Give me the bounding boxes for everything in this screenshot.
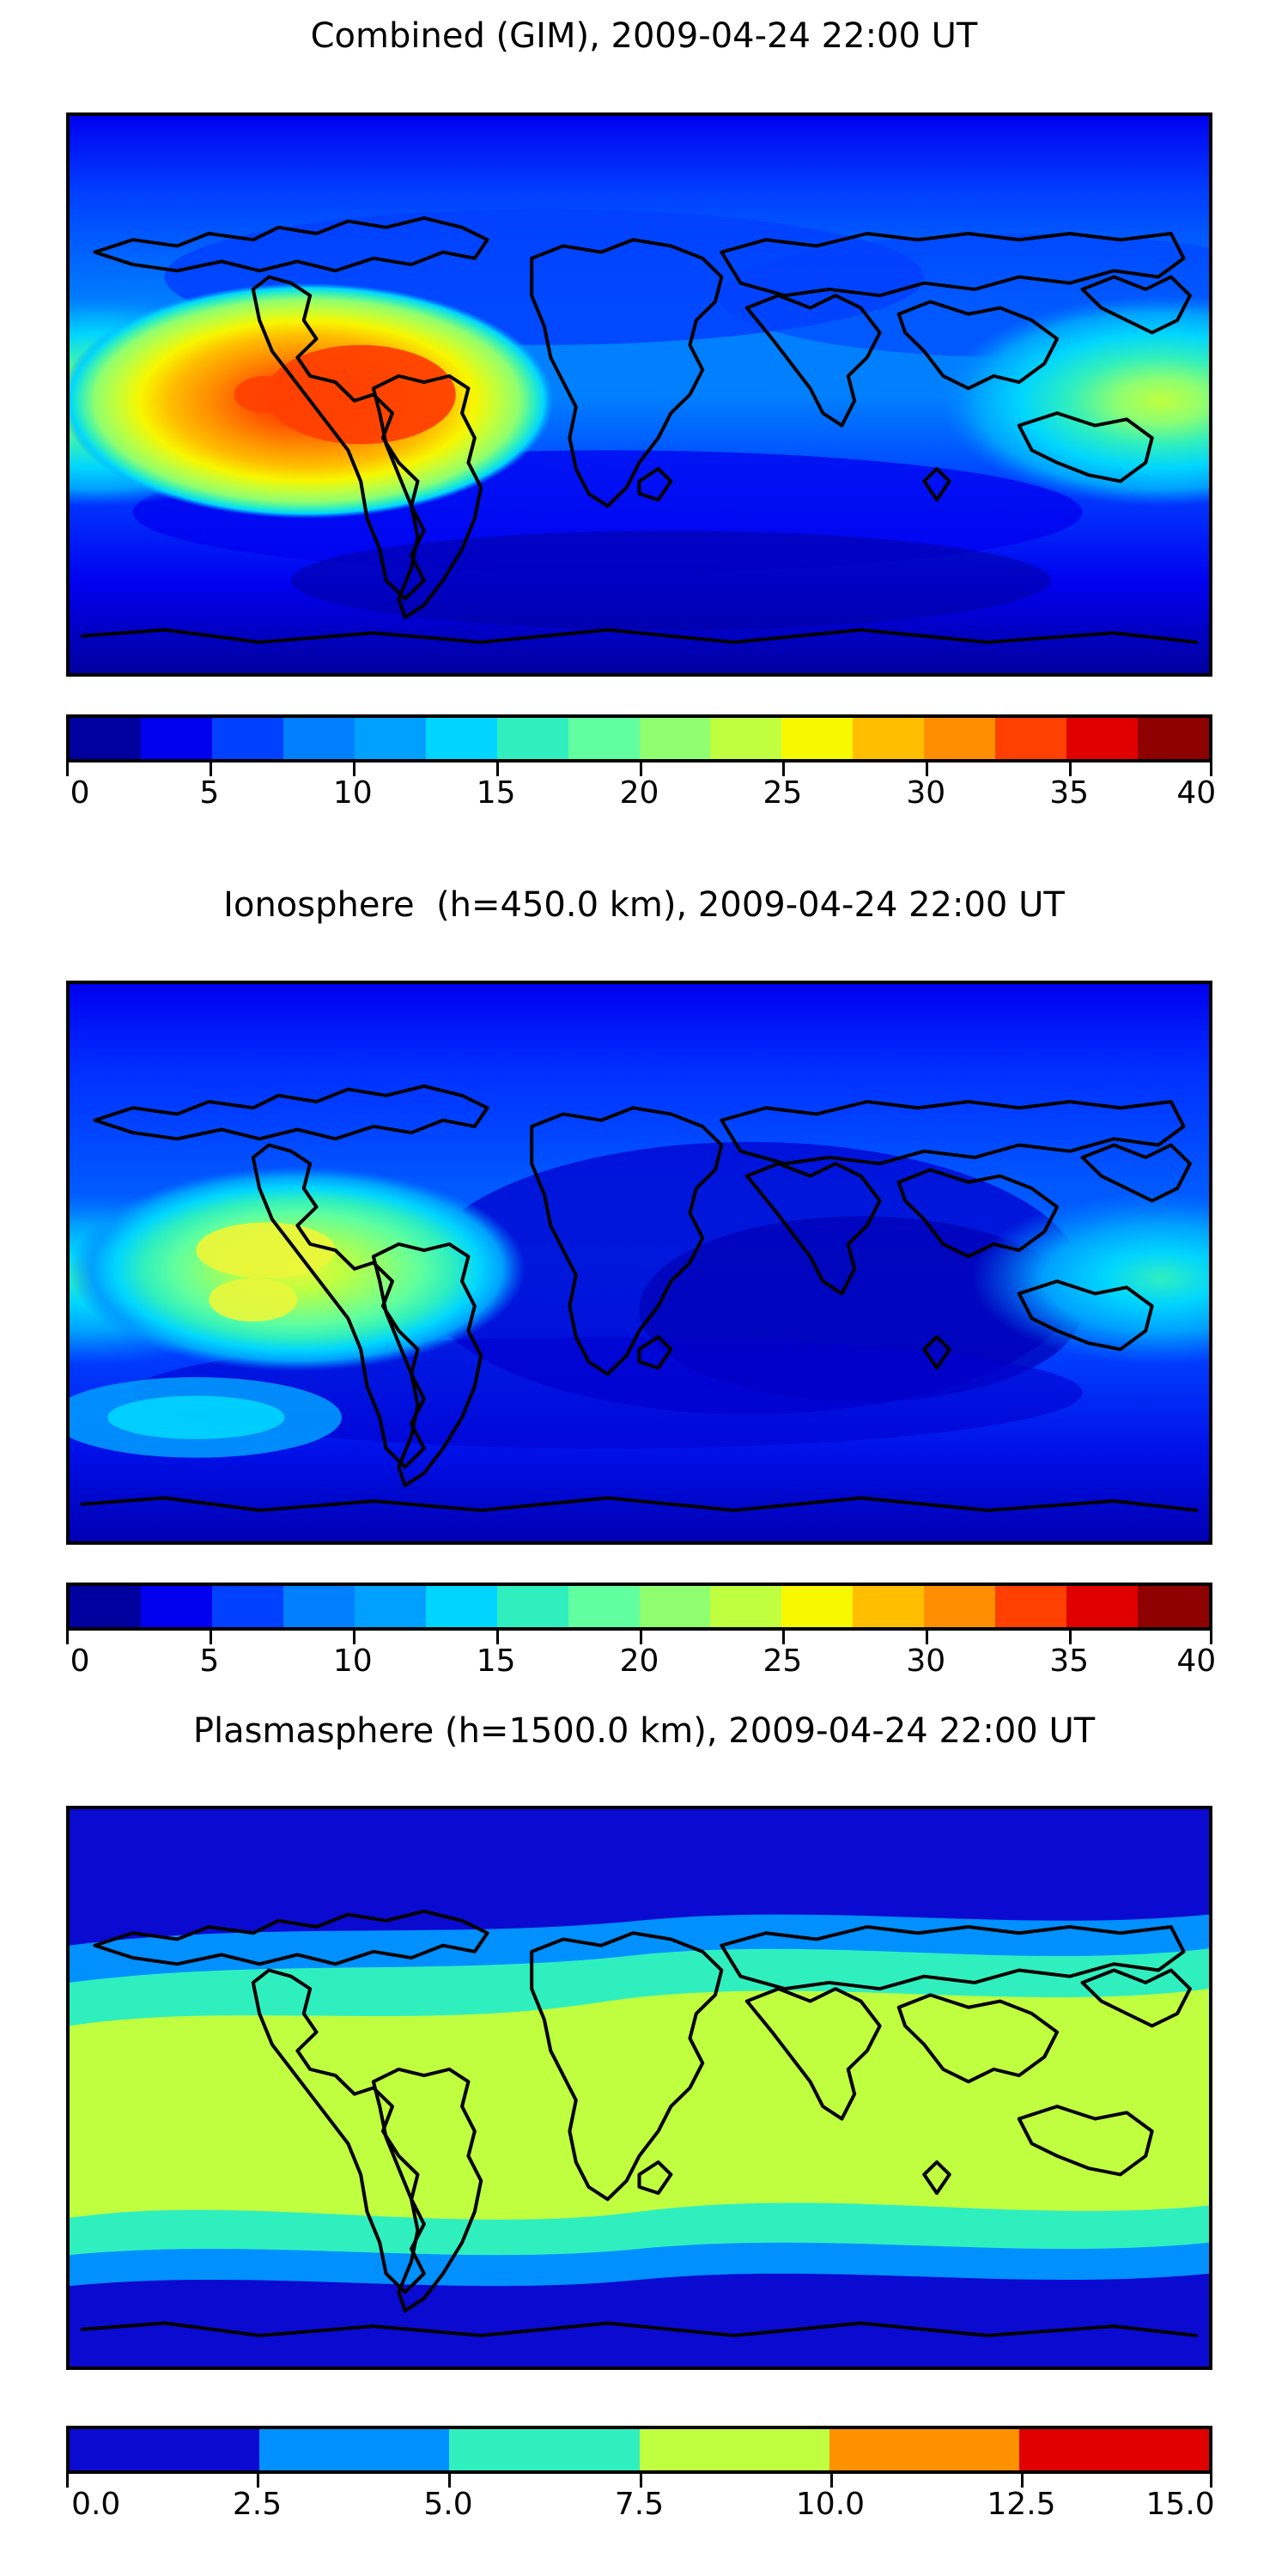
panel-title-plasmasphere: Plasmasphere (h=1500.0 km), 2009-04-24 2… xyxy=(0,1714,1288,1748)
figure-canvas: Combined (GIM), 2009-04-24 22:00 UT xyxy=(0,0,1288,2576)
colorbar-tick-label: 10 xyxy=(333,778,373,809)
colorbar-tick-label: 15 xyxy=(477,778,516,809)
colorbar-tick-label: 12.5 xyxy=(987,2489,1055,2520)
colorbar-tick-label: 20 xyxy=(620,778,659,809)
colorbar-tick-label: 35 xyxy=(1049,778,1089,809)
colorbar-swatches-ionosphere xyxy=(66,1583,1212,1631)
colorbar-tick-label: 0.0 xyxy=(71,2489,120,2520)
colorbar-ticks-plasmasphere xyxy=(66,2474,1212,2488)
colorbar-tick-label: 0 xyxy=(70,1646,90,1677)
colorbar-tick-label: 25 xyxy=(762,1646,802,1677)
panel-combined-gim: Combined (GIM), 2009-04-24 22:00 UT xyxy=(0,19,1288,53)
colorbar-ticks-ionosphere xyxy=(66,1631,1212,1644)
map-plasmasphere xyxy=(66,1806,1212,2370)
map-raster-plasmasphere xyxy=(70,1809,1209,2366)
map-raster-combined-gim xyxy=(70,116,1209,673)
colorbar-ionosphere: 0 5 10 15 20 25 30 35 40 xyxy=(66,1583,1212,1684)
map-ionosphere xyxy=(66,981,1212,1545)
colorbar-tick-label: 20 xyxy=(620,1646,659,1677)
colorbar-swatches-combined-gim xyxy=(66,714,1212,762)
map-raster-ionosphere xyxy=(70,984,1209,1541)
colorbar-tick-label: 5 xyxy=(199,1646,219,1677)
colorbar-combined-gim: 0 5 10 15 20 25 30 35 40 xyxy=(66,714,1212,816)
colorbar-tick-label: 2.5 xyxy=(233,2489,282,2520)
map-combined-gim xyxy=(66,112,1212,677)
colorbar-plasmasphere: 0.0 2.5 5.0 7.5 10.0 12.5 15.0 xyxy=(66,2426,1212,2527)
colorbar-tick-label: 5.0 xyxy=(423,2489,472,2520)
colorbar-ticks-combined-gim xyxy=(66,762,1212,776)
panel-title-ionosphere: Ionosphere (h=450.0 km), 2009-04-24 22:0… xyxy=(0,888,1288,922)
map-contours-plasmasphere xyxy=(70,1809,1209,2366)
panel-title-combined-gim: Combined (GIM), 2009-04-24 22:00 UT xyxy=(0,19,1288,53)
colorbar-tick-label: 15 xyxy=(477,1646,516,1677)
colorbar-labels-combined-gim: 0 5 10 15 20 25 30 35 40 xyxy=(66,776,1212,816)
colorbar-tick-label: 35 xyxy=(1049,1646,1089,1677)
colorbar-tick-label: 5 xyxy=(199,778,219,809)
colorbar-tick-label: 7.5 xyxy=(615,2489,664,2520)
colorbar-tick-label: 30 xyxy=(906,778,945,809)
colorbar-tick-label: 40 xyxy=(1176,1646,1216,1677)
panel-plasmasphere: Plasmasphere (h=1500.0 km), 2009-04-24 2… xyxy=(0,1714,1288,1748)
panel-ionosphere: Ionosphere (h=450.0 km), 2009-04-24 22:0… xyxy=(0,888,1288,922)
colorbar-tick-label: 0 xyxy=(70,778,90,809)
colorbar-labels-ionosphere: 0 5 10 15 20 25 30 35 40 xyxy=(66,1644,1212,1684)
colorbar-tick-label: 15.0 xyxy=(1146,2489,1215,2520)
colorbar-swatches-plasmasphere xyxy=(66,2426,1212,2474)
colorbar-tick-label: 10 xyxy=(333,1646,373,1677)
colorbar-labels-plasmasphere: 0.0 2.5 5.0 7.5 10.0 12.5 15.0 xyxy=(66,2488,1212,2527)
map-contours-ionosphere xyxy=(70,984,1209,1541)
colorbar-tick-label: 40 xyxy=(1176,778,1216,809)
colorbar-tick-label: 10.0 xyxy=(796,2489,865,2520)
colorbar-tick-label: 30 xyxy=(906,1646,945,1677)
colorbar-tick-label: 25 xyxy=(762,778,802,809)
map-contours-combined-gim xyxy=(70,116,1209,673)
